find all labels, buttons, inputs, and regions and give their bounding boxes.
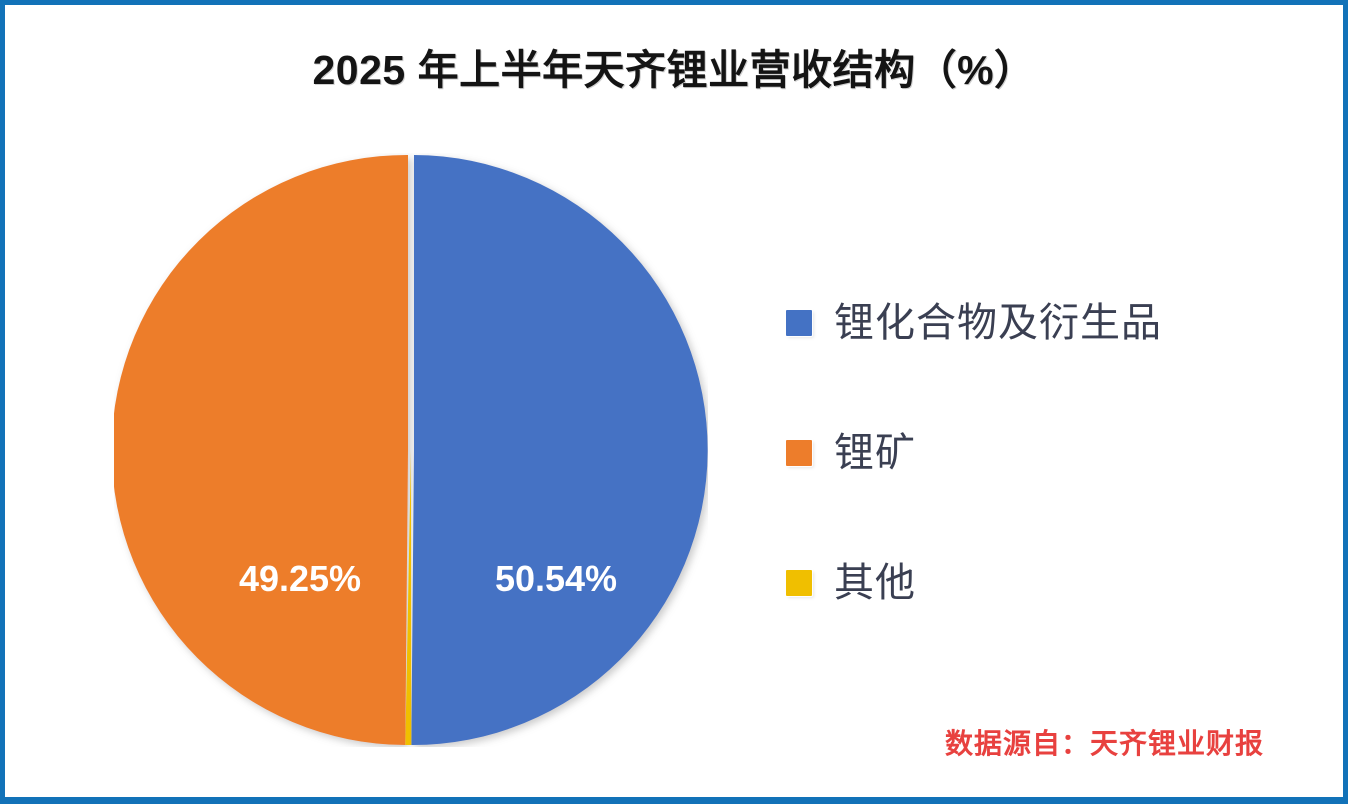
legend-swatch-icon [786, 570, 812, 596]
frame-border-right [1343, 0, 1348, 804]
source-note: 数据源自：天齐锂业财报 [945, 722, 1264, 762]
frame-border-left [0, 0, 5, 804]
legend-item-lithium-ore[interactable]: 锂矿 [786, 388, 1256, 518]
legend-swatch-icon [786, 310, 812, 336]
chart-title: 2025 年上半年天齐锂业营收结构（%） [0, 36, 1348, 96]
legend-item-lithium-compounds[interactable]: 锂化合物及衍生品 [786, 258, 1256, 388]
legend-item-other[interactable]: 其他 [786, 518, 1256, 648]
chart-legend: 锂化合物及衍生品 锂矿 其他 [786, 258, 1256, 648]
pie-slice-lithium-ore[interactable] [114, 155, 408, 745]
frame-border-top [0, 0, 1348, 5]
pie-svg: 49.25% 50.54% [114, 153, 708, 747]
legend-label-lithium-compounds: 锂化合物及衍生品 [834, 303, 1162, 343]
pie-label-lithium-ore: 49.25% [239, 558, 361, 599]
pie-label-lithium-compounds: 50.54% [495, 558, 617, 599]
legend-swatch-icon [786, 440, 812, 466]
pie-slice-lithium-compounds[interactable] [411, 155, 707, 745]
legend-label-lithium-ore: 锂矿 [834, 433, 916, 473]
chart-canvas: 2025 年上半年天齐锂业营收结构（%） 49.25% 50.54% 锂化合物及… [0, 0, 1348, 804]
pie-chart: 49.25% 50.54% [114, 153, 708, 747]
frame-border-bottom [0, 797, 1348, 804]
legend-label-other: 其他 [834, 563, 916, 603]
